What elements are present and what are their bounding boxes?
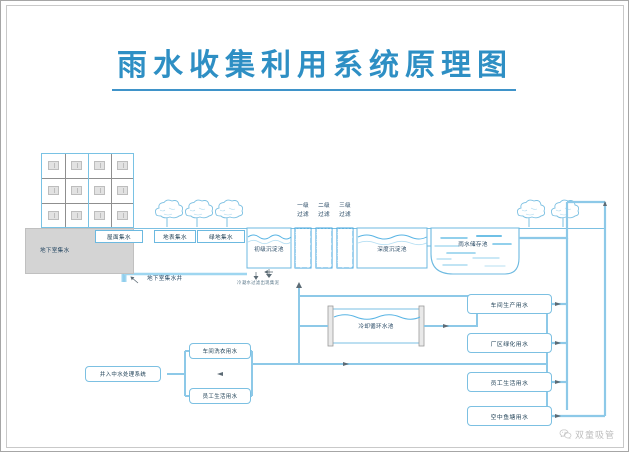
return-box-workshop-laundry[interactable]: 车间洗衣用水 bbox=[189, 343, 251, 359]
label-roof-collection: 屋面集水 bbox=[95, 230, 143, 243]
usage-box-staff-living[interactable]: 员工生活用水 bbox=[467, 372, 552, 392]
screenshot-root: 雨水收集利用系统原理图 bbox=[0, 0, 629, 452]
return-box-staff-living[interactable]: 员工生活用水 bbox=[189, 388, 251, 404]
usage-box-sky-fishpond[interactable]: 空中鱼塘用水 bbox=[467, 406, 552, 426]
usage-box-plant-greening[interactable]: 厂区绿化用水 bbox=[467, 333, 552, 353]
label-green-collection: 绿地集水 bbox=[197, 230, 245, 243]
label-basement-well: 地下室集水井 bbox=[147, 277, 182, 283]
label-filter-note: 冷凝水过滤出现集泥 bbox=[237, 281, 279, 285]
wechat-icon bbox=[559, 428, 572, 441]
label-filter-stage-3-b: 过滤 bbox=[331, 213, 359, 219]
reclaimed-water-box[interactable]: 并入中水处理系统 bbox=[85, 366, 161, 382]
label-cooling-circulation: 冷却循环水池 bbox=[332, 325, 420, 331]
watermark: 双童吸管 bbox=[559, 428, 615, 441]
label-rainwater-storage: 雨水储存池 bbox=[443, 243, 503, 249]
label-primary-sedimentation: 初级沉淀池 bbox=[247, 248, 291, 254]
usage-box-workshop-production[interactable]: 车间生产用水 bbox=[467, 294, 552, 314]
label-basement-collection: 地下室集水 bbox=[40, 249, 69, 255]
building bbox=[41, 153, 134, 228]
label-deep-sedimentation: 深度沉淀池 bbox=[357, 248, 427, 254]
diagram-canvas: 雨水收集利用系统原理图 bbox=[7, 6, 623, 447]
watermark-text: 双童吸管 bbox=[575, 428, 615, 441]
label-filter-stage-3-a: 三级 bbox=[331, 204, 359, 210]
label-surface-collection: 地表集水 bbox=[154, 230, 196, 243]
